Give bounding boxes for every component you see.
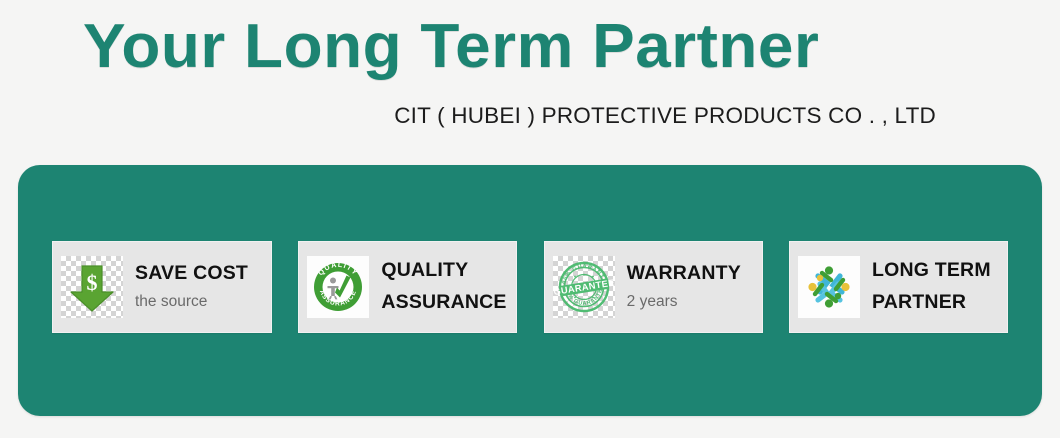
feature-title: WARRANTY bbox=[627, 261, 762, 285]
feature-title: SAVE COST bbox=[135, 261, 271, 285]
feature-title-line2: ASSURANCE bbox=[381, 287, 516, 319]
feature-card-list: $ SAVE COST the source QUALIT bbox=[52, 241, 1008, 337]
guarantee-stamp-icon: 100% GUARANTEE 100% GUARANTEE GUARANTEE bbox=[553, 256, 615, 318]
feature-title-line1: QUALITY bbox=[381, 255, 516, 287]
svg-text:$: $ bbox=[87, 270, 98, 295]
feature-title-line2: PARTNER bbox=[872, 287, 1007, 319]
page-header: Your Long Term Partner CIT ( HUBEI ) PRO… bbox=[0, 0, 1060, 165]
feature-subtitle: 2 years bbox=[627, 290, 762, 313]
feature-subtitle: the source bbox=[135, 290, 271, 313]
quality-assurance-seal-icon: QUALITY ASSURANCE bbox=[307, 256, 369, 318]
feature-card-long-term-partner[interactable]: LONG TERM PARTNER bbox=[789, 241, 1008, 333]
page-title: Your Long Term Partner bbox=[83, 14, 819, 81]
features-panel: $ SAVE COST the source QUALIT bbox=[18, 165, 1042, 416]
feature-card-warranty[interactable]: 100% GUARANTEE 100% GUARANTEE GUARANTEE bbox=[544, 241, 763, 333]
feature-title-line1: LONG TERM bbox=[872, 255, 1007, 287]
feature-card-text: LONG TERM PARTNER bbox=[860, 255, 1007, 318]
feature-card-save-cost[interactable]: $ SAVE COST the source bbox=[52, 241, 272, 333]
company-name: CIT ( HUBEI ) PROTECTIVE PRODUCTS CO . ,… bbox=[394, 103, 936, 129]
feature-card-text: SAVE COST the source bbox=[123, 261, 271, 313]
green-dollar-down-arrow-icon: $ bbox=[61, 256, 123, 318]
feature-card-text: WARRANTY 2 years bbox=[615, 261, 762, 313]
feature-card-text: QUALITY ASSURANCE bbox=[369, 255, 516, 318]
teamwork-people-icon bbox=[798, 256, 860, 318]
feature-card-quality-assurance[interactable]: QUALITY ASSURANCE QUALITY AS bbox=[298, 241, 517, 333]
